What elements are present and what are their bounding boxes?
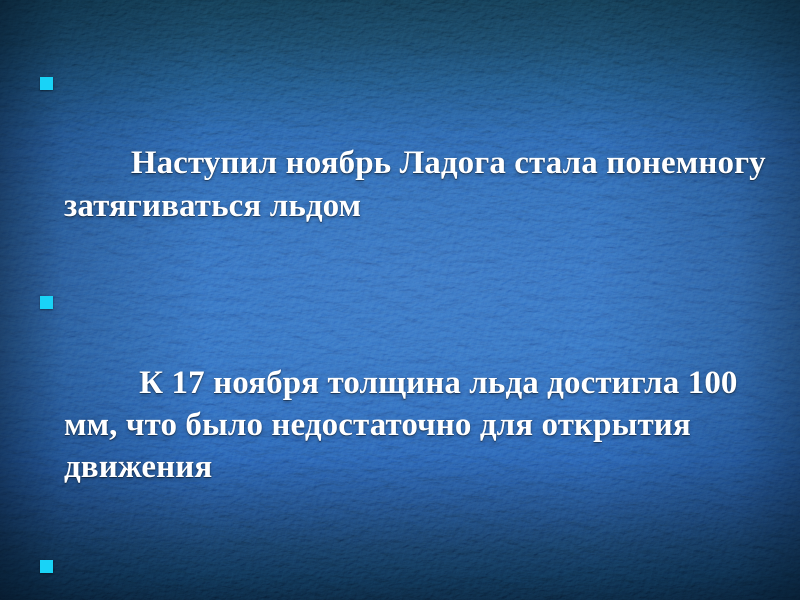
square-bullet-icon	[40, 560, 53, 573]
list-item: К 17 ноября толщина льда достигла 100 мм…	[36, 277, 766, 530]
bullet-text: Наступил ноябрь Ладога стала понемногу з…	[64, 145, 774, 223]
bullet-text: К 17 ноября толщина льда достигла 100 мм…	[64, 365, 746, 485]
list-item: Все ждали морозов…	[36, 541, 766, 600]
bullet-list: Наступил ноябрь Ладога стала понемногу з…	[36, 58, 766, 600]
slide-content: Наступил ноябрь Ладога стала понемногу з…	[0, 0, 800, 600]
slide-canvas: Наступил ноябрь Ладога стала понемногу з…	[0, 0, 800, 600]
square-bullet-icon	[40, 77, 53, 90]
list-item: Наступил ноябрь Ладога стала понемногу з…	[36, 58, 766, 269]
square-bullet-icon	[40, 296, 53, 309]
